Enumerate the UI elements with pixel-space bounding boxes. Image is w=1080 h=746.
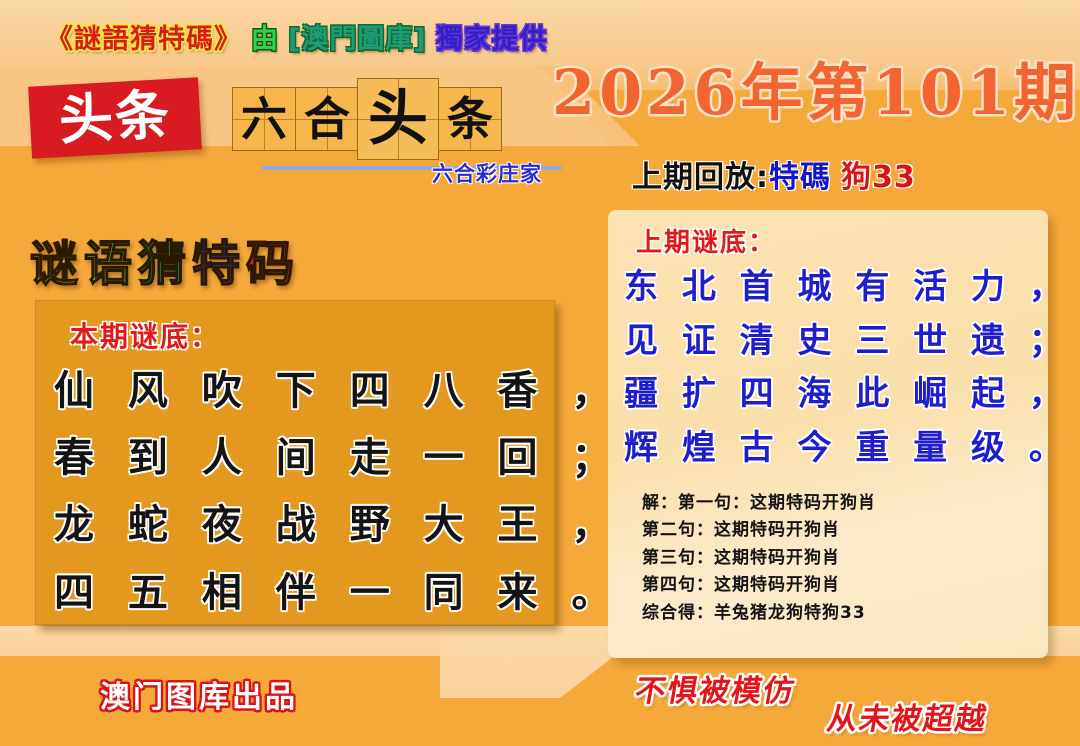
explanation-line: 第三句：这期特码开狗肖 [642, 545, 1032, 573]
replay-label: 上期回放: [632, 160, 769, 195]
toutiao-badge: 头条 [28, 77, 202, 158]
poster-root: 《謎語猜特碼》 由 [澳門圖庫] 獨家提供 头条 六 合 头 条 六合彩庄家 2… [0, 0, 1080, 746]
last-draw-replay: 上期回放:特碼狗33 [632, 152, 916, 196]
current-riddle-panel: 本期谜底： 仙 风 吹 下 四 八 香 ， 春 到 人 间 走 一 回 ； 龙 … [35, 300, 555, 625]
rainbow-char: 猜 [136, 240, 188, 288]
slogan-primary: 不惧被模仿 [632, 666, 800, 710]
brand-tile: 六 [232, 87, 296, 151]
replay-result: 狗33 [841, 160, 916, 195]
brand-tile-char: 头 [368, 89, 428, 149]
explanation-block: 解：第一句：这期特码开狗肖 第二句：这期特码开狗肖 第三句：这期特码开狗肖 第四… [642, 490, 1032, 628]
current-riddle-header: 本期谜底： [70, 315, 536, 355]
toutiao-badge-label: 头条 [58, 88, 173, 148]
brand-tile-char: 六 [241, 96, 287, 142]
explanation-line: 第二句：这期特码开狗肖 [642, 517, 1032, 545]
producer-credit: 澳门图库出品 [100, 672, 298, 716]
brand-tile-char: 条 [447, 96, 493, 142]
brand-tagline: 六合彩庄家 [432, 158, 542, 188]
explanation-line: 第四句：这期特码开狗肖 [642, 572, 1032, 600]
riddle-line: 东 北 首 城 有 活 力 ， [624, 261, 1032, 315]
rainbow-char: 特 [190, 240, 242, 288]
rainbow-title: 谜 语 猜 特 码 [28, 240, 296, 288]
headline-title: 《謎語猜特碼》 [46, 17, 242, 56]
riddle-line: 龙 蛇 夜 战 野 大 王 ， [54, 491, 536, 558]
riddle-line: 春 到 人 间 走 一 回 ； [54, 424, 536, 491]
current-riddle-lines: 仙 风 吹 下 四 八 香 ， 春 到 人 间 走 一 回 ； 龙 蛇 夜 战 … [54, 357, 536, 626]
rainbow-char: 谜 [28, 240, 80, 288]
rainbow-char: 语 [82, 240, 134, 288]
riddle-line: 疆 扩 四 海 此 崛 起 ， [624, 368, 1032, 422]
previous-riddle-header: 上期谜底： [636, 222, 1032, 259]
brand-tile-char: 合 [304, 96, 350, 142]
slogan-secondary: 从未被超越 [824, 694, 992, 738]
riddle-line: 仙 风 吹 下 四 八 香 ， [54, 357, 536, 424]
riddle-line: 四 五 相 伴 一 同 来 。 [54, 559, 536, 626]
brand-tile-large: 头 [357, 78, 439, 160]
brand-tile: 合 [295, 87, 359, 151]
previous-riddle-lines: 东 北 首 城 有 活 力 ， 见 证 清 史 三 世 遗 ； 疆 扩 四 海 … [624, 261, 1032, 476]
headline-exclusive: 獨家提供 [436, 17, 548, 56]
rainbow-char: 码 [244, 240, 296, 288]
top-headline: 《謎語猜特碼》 由 [澳門圖庫] 獨家提供 [46, 18, 548, 54]
headline-source: [澳門圖庫] [288, 17, 427, 56]
previous-riddle-panel: 上期谜底： 东 北 首 城 有 活 力 ， 见 证 清 史 三 世 遗 ； 疆 … [608, 210, 1048, 658]
brand-tiles: 六 合 头 条 [232, 78, 501, 160]
explanation-summary: 综合得：羊兔猪龙狗特狗33 [642, 600, 1032, 628]
brand-tile: 条 [438, 87, 502, 151]
period-title: 2026年第101期 [552, 62, 1080, 124]
headline-by: 由 [251, 17, 279, 56]
replay-type: 特碼 [769, 160, 831, 195]
riddle-line: 见 证 清 史 三 世 遗 ； [624, 315, 1032, 369]
riddle-line: 辉 煌 古 今 重 量 级 。 [624, 422, 1032, 476]
explanation-line: 解：第一句：这期特码开狗肖 [642, 490, 1032, 518]
